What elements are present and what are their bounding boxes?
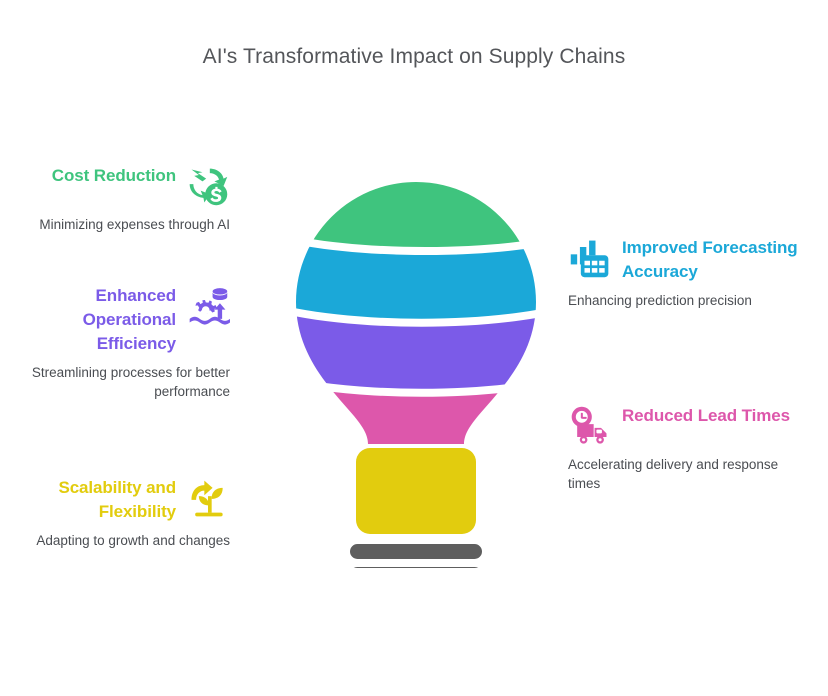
band-purple [288, 310, 544, 389]
feature-desc-enhanced-operational-efficiency: Streamlining processes for better perfor… [30, 363, 230, 401]
plant-growth-icon [186, 476, 230, 520]
feature-desc-reduced-lead-times: Accelerating delivery and response times [568, 455, 798, 493]
feature-title-improved-forecasting-accuracy: Improved Forecasting Accuracy [622, 236, 798, 284]
feature-improved-forecasting-accuracy: Improved Forecasting Accuracy Enhancing … [568, 236, 798, 310]
feature-title-reduced-lead-times: Reduced Lead Times [622, 404, 790, 428]
gears-uparrow-icon [186, 284, 230, 328]
clock-truck-icon [568, 404, 612, 448]
feature-reduced-lead-times: Reduced Lead Times Accelerating delivery… [568, 404, 798, 493]
band-green [288, 178, 544, 247]
base-stripe-2 [350, 567, 482, 568]
lightbulb-graphic [288, 178, 544, 568]
band-blue [288, 238, 544, 319]
feature-desc-improved-forecasting-accuracy: Enhancing prediction precision [568, 291, 798, 310]
band-yellow [356, 448, 476, 534]
feature-scalability-and-flexibility: Scalability and Flexibility Adapting to … [30, 476, 230, 550]
money-recycle-icon [186, 164, 230, 208]
feature-desc-scalability-and-flexibility: Adapting to growth and changes [30, 531, 230, 550]
bar-chart-calendar-icon [568, 236, 612, 280]
page-title: AI's Transformative Impact on Supply Cha… [0, 45, 828, 69]
feature-desc-cost-reduction: Minimizing expenses through AI [30, 215, 230, 234]
base-stripe-1 [350, 544, 482, 559]
feature-title-cost-reduction: Cost Reduction [52, 164, 176, 188]
infographic-canvas: AI's Transformative Impact on Supply Cha… [0, 0, 828, 696]
feature-enhanced-operational-efficiency: Enhanced Operational Efficiency Streamli… [30, 284, 230, 401]
feature-title-scalability-and-flexibility: Scalability and Flexibility [30, 476, 176, 524]
feature-title-enhanced-operational-efficiency: Enhanced Operational Efficiency [30, 284, 176, 356]
feature-cost-reduction: Cost Reduction Minimizing expenses throu… [30, 164, 230, 234]
